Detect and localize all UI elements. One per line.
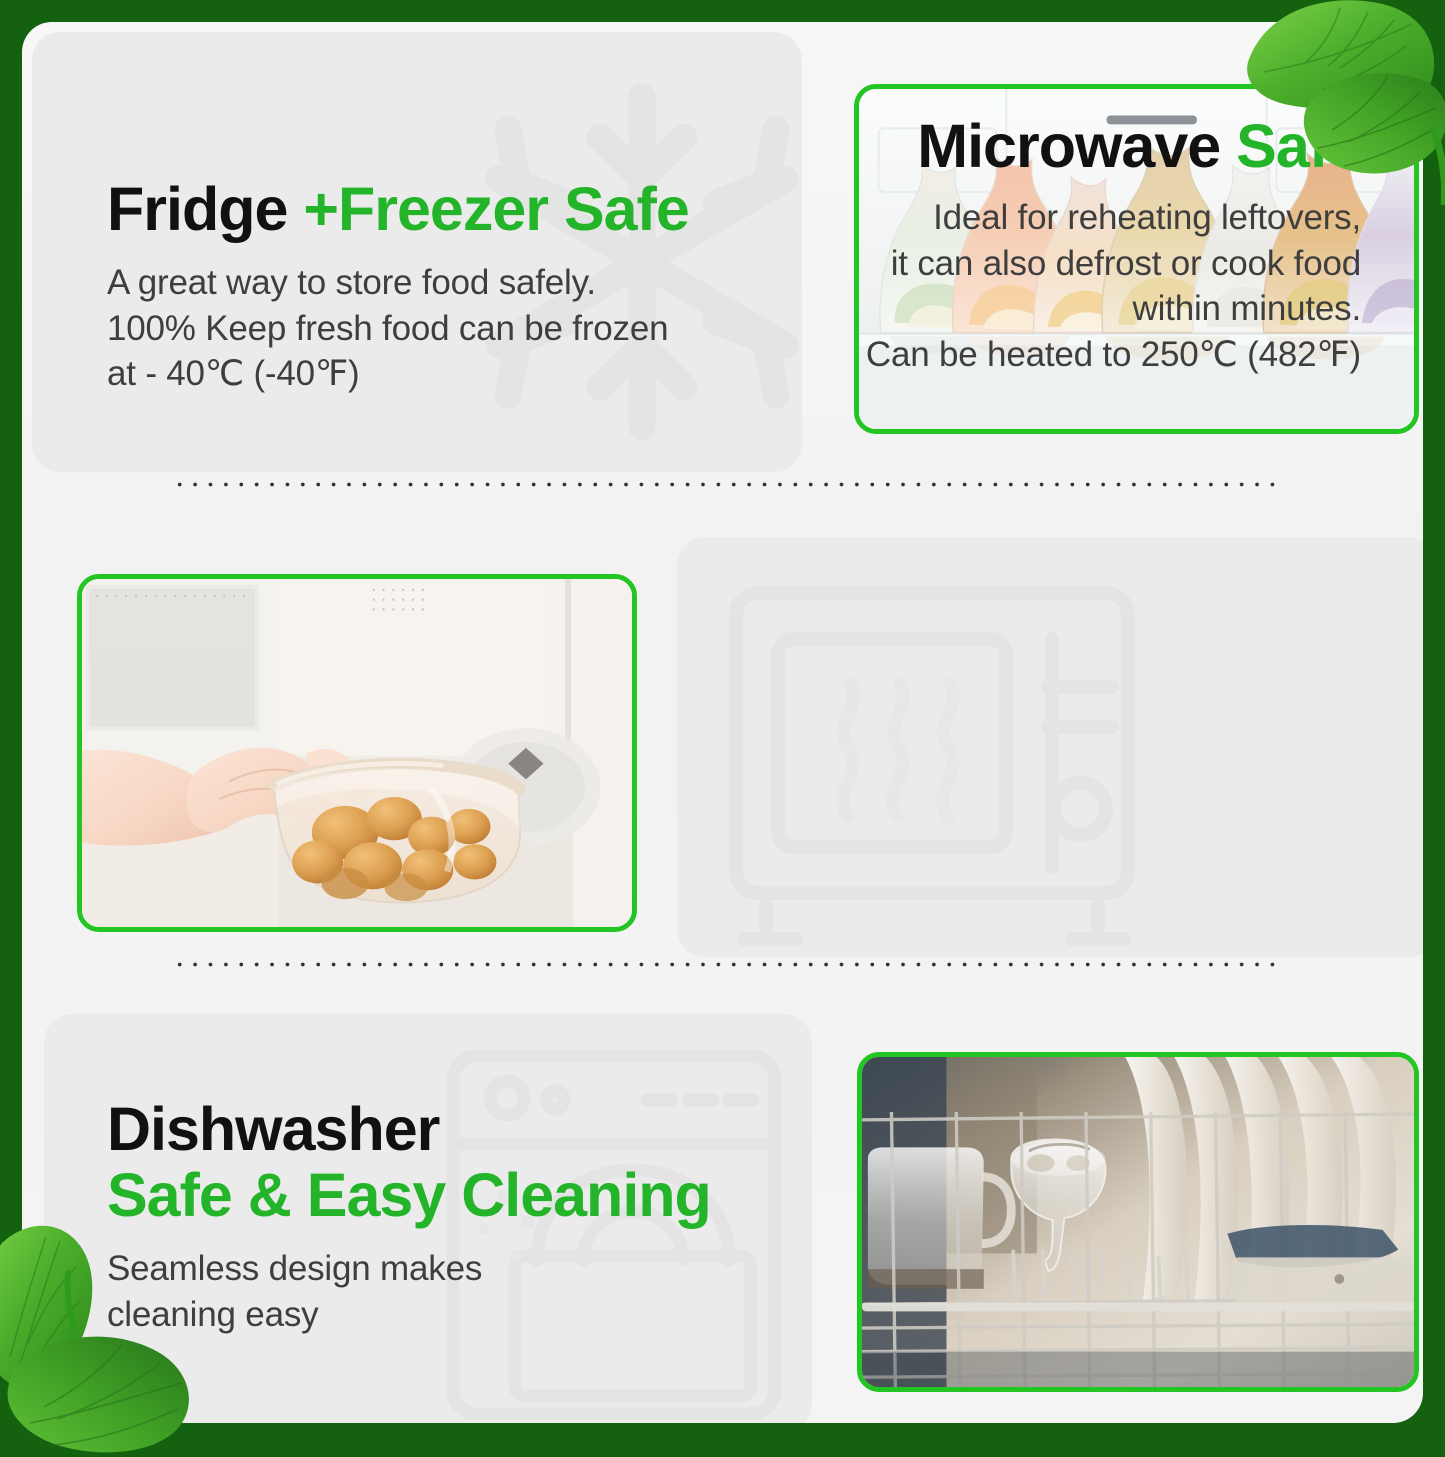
fridge-headline-green: +Freezer Safe	[303, 175, 688, 243]
microwave-body-line-4: Can be heated to 250℃ (482℉)	[721, 332, 1361, 378]
photo-microwave-bag	[77, 574, 637, 932]
microwave-body-line-2: it can also defrost or cook food	[721, 241, 1361, 287]
fridge-text-block: Fridge +Freezer Safe A great way to stor…	[107, 177, 767, 397]
fridge-body: A great way to store food safely. 100% K…	[107, 260, 767, 397]
microwave-headline-black: Microwave	[917, 112, 1220, 180]
panel-microwave	[677, 537, 1423, 957]
dishwasher-headline-black: Dishwasher	[107, 1095, 439, 1163]
microwave-body-line-3: within minutes.	[721, 286, 1361, 332]
fridge-body-line-2: 100% Keep fresh food can be frozen	[107, 306, 767, 352]
mint-leaf-icon	[1236, 0, 1445, 205]
microwave-bag-image	[82, 579, 632, 931]
dishwasher-rack-image	[862, 1057, 1414, 1391]
photo-dishwasher-rack	[857, 1052, 1419, 1392]
infographic-card: Fridge +Freezer Safe A great way to stor…	[22, 22, 1423, 1423]
mint-leaf-icon	[0, 1197, 231, 1457]
dotted-divider-1	[172, 482, 1277, 487]
dishwasher-headline-line-1: Dishwasher	[107, 1097, 787, 1161]
fridge-body-line-3: at - 40℃ (-40℉)	[107, 351, 767, 397]
fridge-headline: Fridge +Freezer Safe	[107, 177, 767, 241]
dotted-divider-2	[172, 962, 1277, 967]
outer-green-frame: Fridge +Freezer Safe A great way to stor…	[0, 0, 1445, 1445]
fridge-body-line-1: A great way to store food safely.	[107, 260, 767, 306]
fridge-headline-black: Fridge	[107, 175, 287, 243]
microwave-body: Ideal for reheating leftovers, it can al…	[721, 195, 1361, 377]
